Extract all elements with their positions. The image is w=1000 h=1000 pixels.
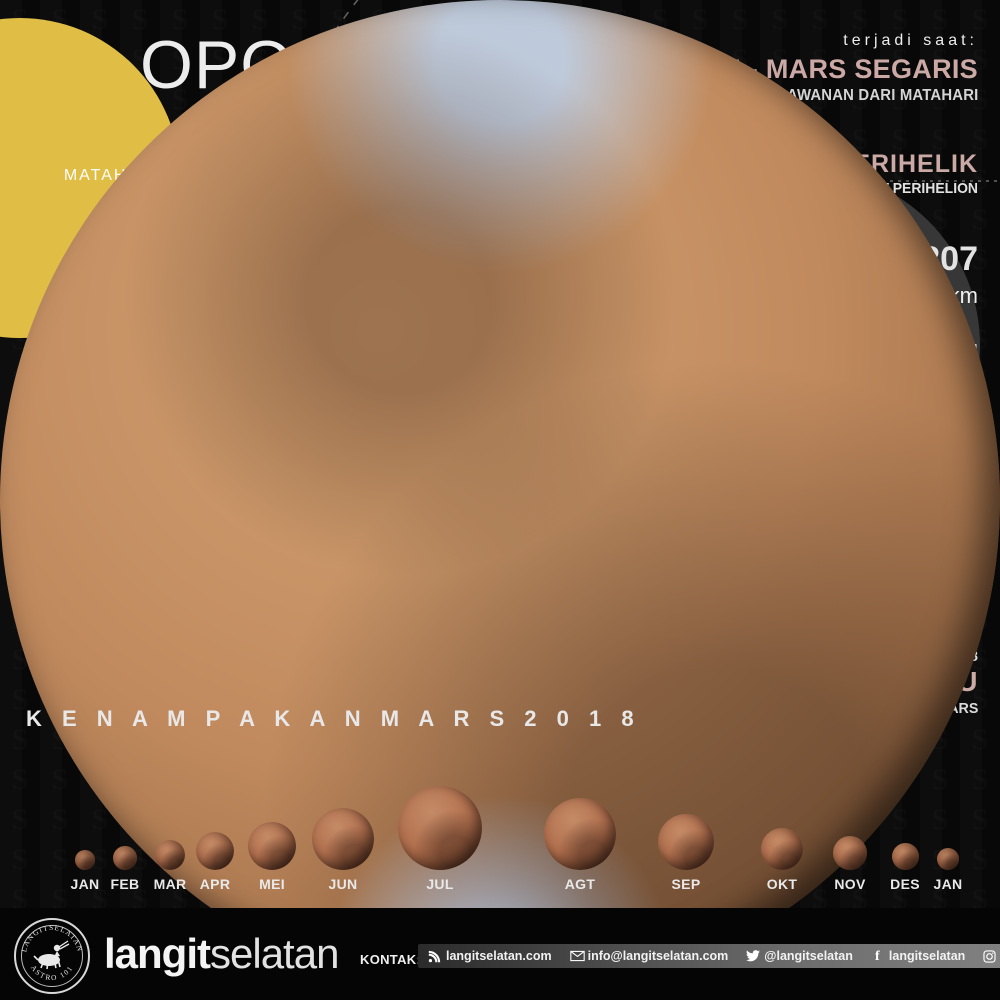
brand-selatan: selatan: [210, 930, 338, 977]
appearance-heading: K E N A M P A K A N M A R S 2 0 1 8: [26, 706, 641, 732]
month-label: OKT: [767, 876, 797, 892]
mars-size-disc: [113, 846, 137, 870]
list-item: [248, 822, 296, 870]
list-item: [113, 846, 137, 870]
contact-label: KONTAK:: [360, 952, 421, 967]
month-label: JUL: [426, 876, 453, 892]
month-label: JAN: [934, 876, 963, 892]
mars-size-disc: [761, 828, 803, 870]
logo-ring-text: LANGITSELATAN ASTRO 101: [16, 920, 88, 992]
month-label: MAR: [154, 876, 187, 892]
langitselatan-logo: LANGITSELATAN ASTRO 101: [14, 918, 90, 994]
infographic-canvas: SSSSSSSSSSSSSSSSSSSSSSSSSSSSSSSSSSSSSSSS…: [0, 0, 1000, 1000]
mars-size-disc: [155, 840, 185, 870]
contact-link[interactable]: flangitselatan: [871, 949, 965, 963]
month-labels: JANFEBMARAPRMEIJUNJULAGTSEPOKTNOVDESJAN: [0, 876, 1000, 896]
mars-size-disc: [544, 798, 616, 870]
month-label: MEI: [259, 876, 285, 892]
mars-size-disc: [312, 808, 374, 870]
mars-size-disc: [398, 786, 482, 870]
month-label: DES: [890, 876, 920, 892]
svg-text:ASTRO 101: ASTRO 101: [29, 963, 75, 982]
month-label: FEB: [111, 876, 140, 892]
mars-size-series: [0, 770, 1000, 870]
contact-link-text: info@langitselatan.com: [588, 949, 729, 963]
mars-size-disc: [248, 822, 296, 870]
logo-centaur-icon: [34, 941, 69, 969]
facebook-icon: f: [871, 950, 884, 963]
brand-langit: langit: [104, 930, 210, 977]
contact-link[interactable]: info@langitselatan.com: [570, 949, 729, 963]
month-label: NOV: [834, 876, 865, 892]
contact-link-text: langitselatan: [889, 949, 965, 963]
list-item: [196, 832, 234, 870]
month-label: AGT: [565, 876, 595, 892]
envelope-icon: [570, 950, 583, 963]
list-item: [761, 828, 803, 870]
list-item: [937, 848, 959, 870]
list-item: [398, 786, 482, 870]
brand-wordmark: langitselatan: [104, 930, 338, 978]
month-label: JUN: [329, 876, 358, 892]
instagram-icon: [983, 950, 996, 963]
mars-size-disc: [937, 848, 959, 870]
mars-size-disc: [75, 850, 95, 870]
svg-text:LANGITSELATAN: LANGITSELATAN: [19, 923, 84, 953]
mars-size-disc: [892, 843, 919, 870]
list-item: [658, 814, 714, 870]
mars-size-disc: [833, 836, 867, 870]
month-label: JAN: [71, 876, 100, 892]
contact-link[interactable]: langitselatan.com: [428, 949, 552, 963]
contact-link-text: langitselatan.com: [446, 949, 552, 963]
list-item: [312, 808, 374, 870]
mars-size-disc: [658, 814, 714, 870]
contact-link[interactable]: @langitselatan: [746, 949, 853, 963]
list-item: [75, 850, 95, 870]
list-item: [833, 836, 867, 870]
contact-links: langitselatan.cominfo@langitselatan.com@…: [418, 944, 1000, 968]
mars-size-disc: [196, 832, 234, 870]
list-item: [544, 798, 616, 870]
footer-bar: LANGITSELATAN ASTRO 101 langitselatan KO…: [0, 908, 1000, 1000]
rss-icon: [428, 950, 441, 963]
contact-link[interactable]: langitselatanmedia: [983, 949, 1000, 963]
month-label: SEP: [672, 876, 701, 892]
month-label: APR: [200, 876, 230, 892]
list-item: [155, 840, 185, 870]
twitter-icon: [746, 950, 759, 963]
contact-link-text: @langitselatan: [764, 949, 853, 963]
list-item: [892, 843, 919, 870]
